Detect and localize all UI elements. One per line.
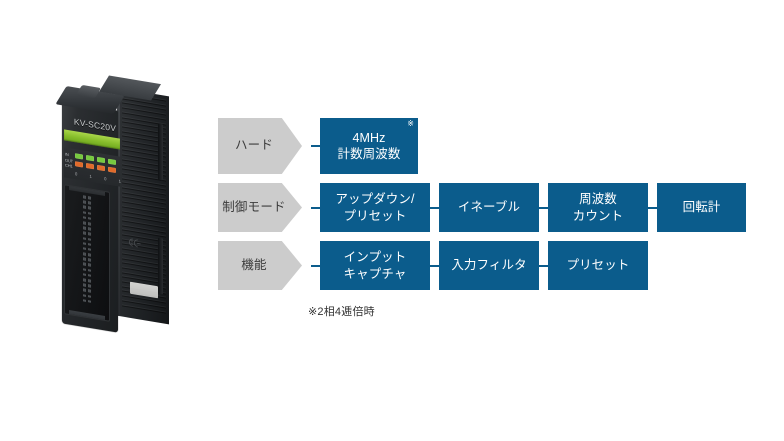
- module-io-connector: [64, 184, 110, 322]
- connector-pin: [83, 201, 86, 204]
- connector-pin: [83, 206, 86, 209]
- connector-pin: [88, 207, 91, 210]
- flow-feature-box[interactable]: イネーブル: [439, 183, 539, 232]
- flow-row-3: 機能インプットキャプチャ入力フィルタプリセット: [218, 241, 758, 290]
- flow-category-label: ハード: [235, 138, 273, 154]
- flow-feature-box[interactable]: 入力フィルタ: [439, 241, 539, 290]
- connector-pin: [88, 253, 91, 256]
- connector-pin: [88, 222, 91, 225]
- connector-pin: [88, 201, 91, 204]
- led-indicator-orange: [108, 167, 116, 173]
- flow-feature-label: 4MHz計数周波数: [337, 130, 400, 163]
- flow-category-tag: ハード: [218, 118, 302, 174]
- module-side-slot-bottom: [158, 238, 163, 295]
- connector-pin: [88, 238, 91, 241]
- connector-pin: [83, 216, 86, 219]
- flow-category-label: 制御モード: [222, 200, 286, 216]
- connector-pin: [88, 212, 91, 215]
- connector-pin: [88, 269, 91, 272]
- connector-pin: [88, 274, 91, 277]
- feature-flow-diagram: ハード4MHz計数周波数※制御モードアップダウン/プリセットイネーブル周波数カウ…: [218, 100, 758, 330]
- flow-feature-box[interactable]: プリセット: [548, 241, 648, 290]
- connector-pin: [83, 299, 86, 302]
- flow-feature-box[interactable]: 周波数カウント: [548, 183, 648, 232]
- connector-pin: [88, 258, 91, 261]
- flow-feature-label: インプットキャプチャ: [344, 249, 407, 282]
- flow-category-tag: 機能: [218, 241, 302, 290]
- flow-feature-box[interactable]: 4MHz計数周波数※: [320, 118, 418, 174]
- flow-feature-label: イネーブル: [458, 199, 520, 216]
- connector-pin: [83, 242, 86, 245]
- connector-pin: [88, 290, 91, 293]
- connector-pin: [88, 279, 91, 282]
- connector-pin: [83, 211, 86, 214]
- flow-category-tag: 制御モード: [218, 183, 302, 232]
- module-side-slot-top: [158, 124, 163, 181]
- connector-pin: [83, 247, 86, 250]
- flow-row-2: 制御モードアップダウン/プリセットイネーブル周波数カウント回転計: [218, 183, 758, 232]
- flow-connector-line: [539, 207, 548, 209]
- footnote-marker: ※: [407, 120, 414, 128]
- flow-row-1: ハード4MHz計数周波数※: [218, 118, 758, 174]
- connector-pin: [83, 268, 86, 271]
- pin-number: 1: [119, 178, 121, 183]
- product-image-kv-sc20v: KV-SC20V IN OUT CH1: [48, 88, 198, 348]
- led-indicator-orange: [75, 161, 83, 167]
- flow-feature-box[interactable]: アップダウン/プリセット: [320, 183, 430, 232]
- diagram-footnote: ※2相4逓倍時: [308, 303, 375, 319]
- connector-pin: [83, 195, 86, 198]
- page-canvas: KV-SC20V IN OUT CH1: [0, 0, 784, 441]
- flow-connector-line: [311, 207, 320, 209]
- connector-pin: [88, 264, 91, 267]
- connector-pin: [83, 289, 86, 292]
- flow-connector-line: [648, 207, 657, 209]
- connector-pin: [83, 237, 86, 240]
- connector-pin: [83, 221, 86, 224]
- pin-number: 1: [90, 173, 92, 178]
- flow-connector-line: [430, 207, 439, 209]
- pin-number: 0: [104, 176, 106, 181]
- flow-connector-line: [311, 265, 320, 267]
- connector-pin: [83, 252, 86, 255]
- pin-number: 0: [75, 171, 77, 176]
- connector-pin: [88, 227, 91, 230]
- flow-connector-line: [311, 145, 320, 147]
- connector-pin: [83, 278, 86, 281]
- led-indicator-green: [86, 155, 94, 161]
- connector-pin-grid: [70, 193, 104, 311]
- connector-pin: [83, 284, 86, 287]
- connector-pin: [88, 300, 91, 303]
- connector-pin: [88, 284, 91, 287]
- connector-pin: [88, 243, 91, 246]
- flow-feature-box[interactable]: 回転計: [657, 183, 746, 232]
- connector-pin: [83, 294, 86, 297]
- led-indicator-green: [97, 157, 105, 163]
- flow-connector-line: [430, 265, 439, 267]
- led-indicator-orange: [86, 163, 94, 169]
- connector-pin: [88, 217, 91, 220]
- led-indicator-green: [108, 159, 116, 165]
- connector-pin: [83, 258, 86, 261]
- ce-certification-icon: [128, 237, 142, 249]
- product-render: KV-SC20V IN OUT CH1: [48, 88, 198, 348]
- connector-pin: [83, 232, 86, 235]
- flow-feature-label: 周波数カウント: [573, 191, 623, 224]
- flow-connector-line: [539, 265, 548, 267]
- led-legend-in: IN: [65, 151, 69, 157]
- led-indicator-orange: [97, 165, 105, 171]
- connector-pin: [88, 248, 91, 251]
- flow-category-label: 機能: [241, 258, 266, 274]
- flow-feature-label: 入力フィルタ: [451, 257, 526, 274]
- connector-pin: [88, 295, 91, 298]
- connector-pin: [83, 263, 86, 266]
- flow-feature-label: 回転計: [683, 199, 721, 216]
- flow-feature-label: プリセット: [566, 257, 629, 274]
- connector-pin: [83, 226, 86, 229]
- led-indicator-green: [75, 153, 83, 159]
- led-legend-ch: CH1: [65, 162, 72, 168]
- connector-pin: [83, 273, 86, 276]
- flow-feature-box[interactable]: インプットキャプチャ: [320, 241, 430, 290]
- connector-pin: [88, 196, 91, 199]
- flow-feature-label: アップダウン/プリセット: [335, 191, 414, 224]
- connector-pin: [88, 233, 91, 236]
